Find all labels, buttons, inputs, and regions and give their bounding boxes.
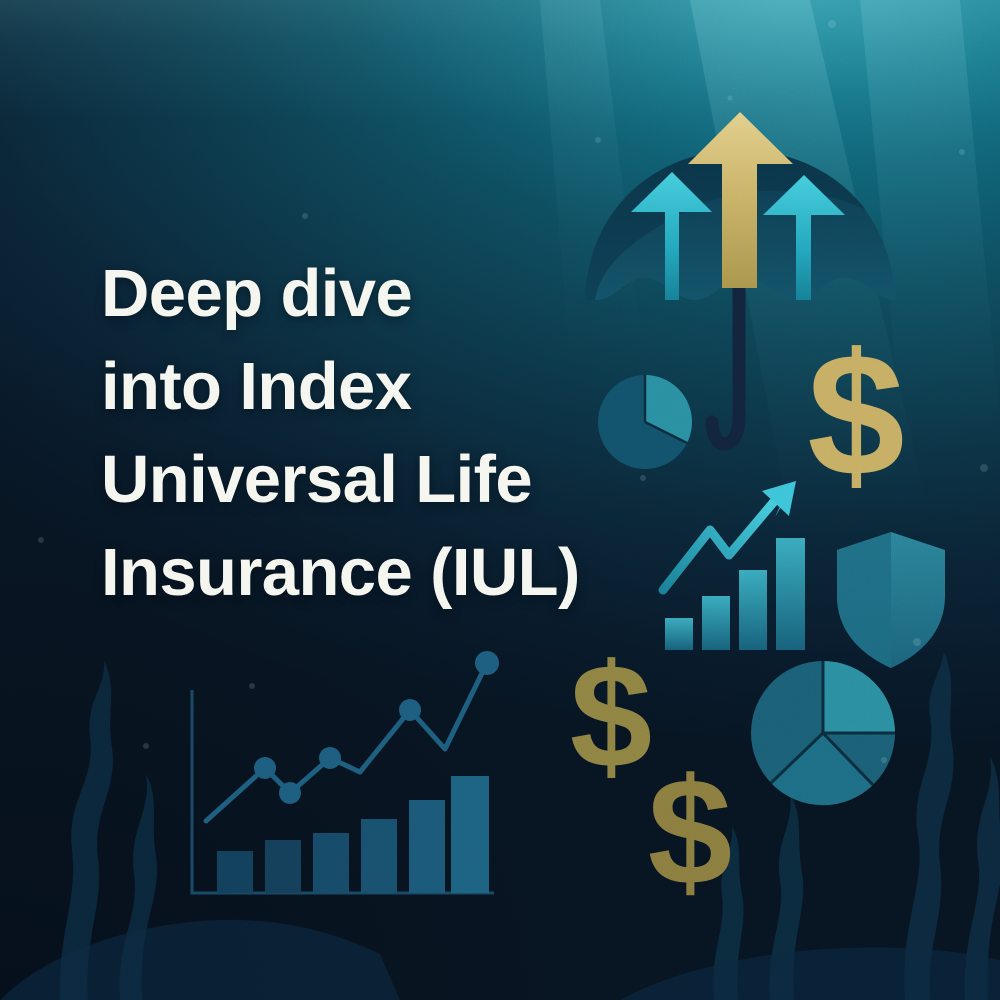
page-title: Deep dive into Index Universal Life Insu… <box>101 247 701 619</box>
headline-line-2: into Index <box>101 340 701 433</box>
headline-line-1: Deep dive <box>101 247 701 340</box>
headline-line-4: Insurance (IUL) <box>101 526 701 619</box>
headline-line-3: Universal Life <box>101 433 701 526</box>
poster-canvas: $ $ $ <box>0 0 1000 1000</box>
